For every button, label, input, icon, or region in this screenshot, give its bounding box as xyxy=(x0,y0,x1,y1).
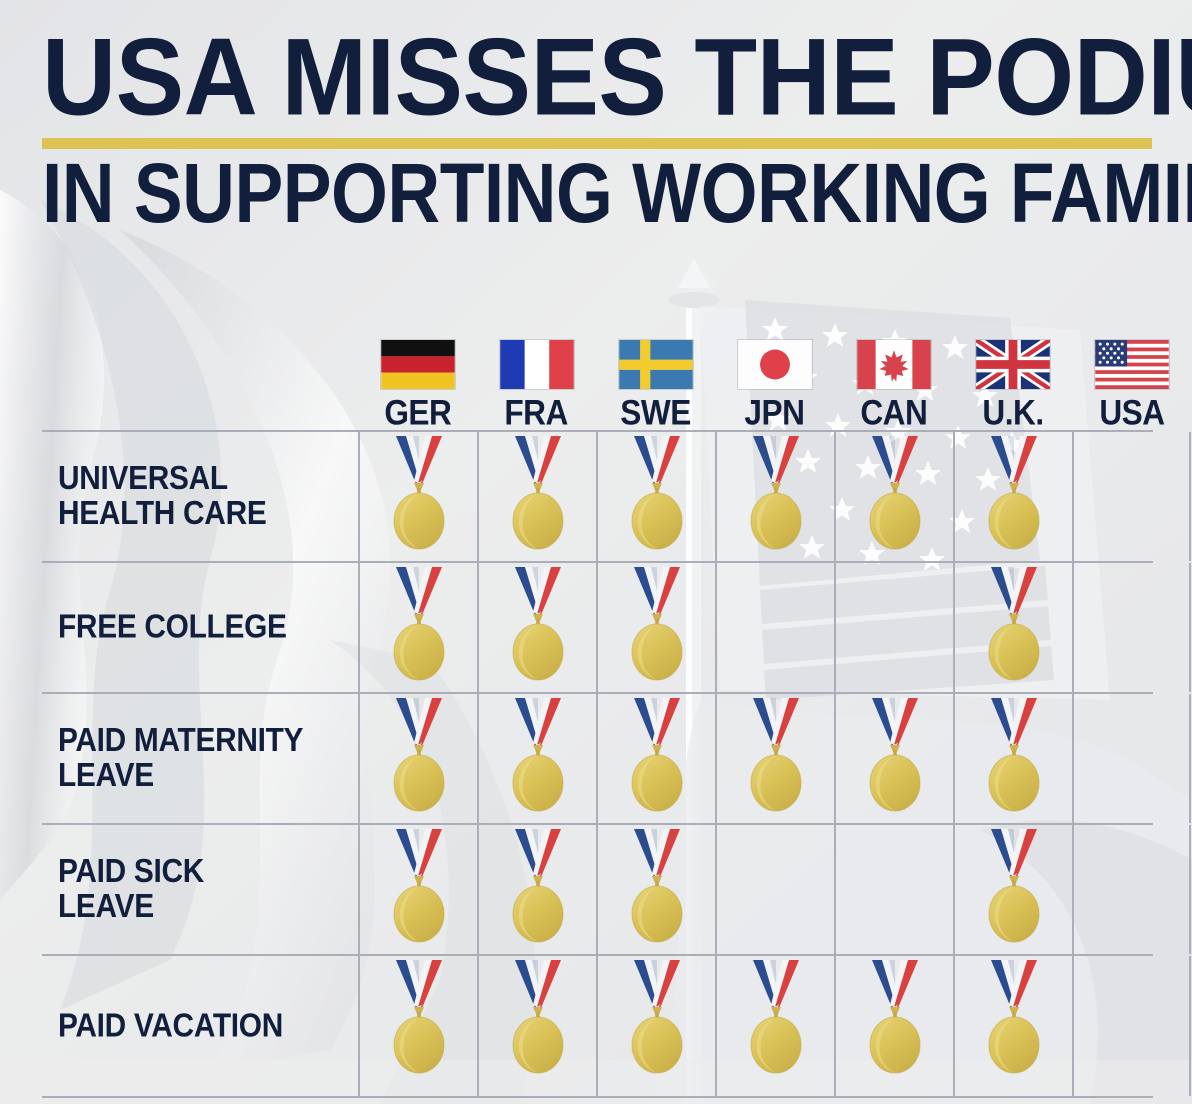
cell-ger-free-college xyxy=(358,563,477,692)
cell-jpn-free-college xyxy=(715,563,834,692)
row-label-text: PAID VACATION xyxy=(58,1009,283,1044)
gold-medal-icon xyxy=(502,567,574,687)
sweden-flag-icon xyxy=(619,340,693,389)
cell-uk-paid-maternity-leave xyxy=(953,694,1072,823)
cell-swe-free-college xyxy=(596,563,715,692)
gold-medal-icon xyxy=(859,960,931,1080)
cell-fra-paid-maternity-leave xyxy=(477,694,596,823)
cell-fra-paid-sick-leave xyxy=(477,825,596,954)
row-label-universal-health-care: UNIVERSAL HEALTH CARE xyxy=(42,432,358,561)
column-header-swe: SWE xyxy=(596,306,715,430)
cell-swe-universal-health-care xyxy=(596,432,715,561)
table-row: PAID VACATION xyxy=(42,956,1153,1098)
cell-uk-paid-vacation xyxy=(953,956,1072,1096)
cell-jpn-paid-vacation xyxy=(715,956,834,1096)
cell-swe-paid-sick-leave xyxy=(596,825,715,954)
gold-medal-icon xyxy=(502,436,574,556)
cell-usa-universal-health-care xyxy=(1072,432,1191,561)
column-header-label: USA xyxy=(1099,395,1164,430)
cell-can-paid-maternity-leave xyxy=(834,694,953,823)
cell-jpn-universal-health-care xyxy=(715,432,834,561)
table-header-row: GER FRA SWE JPN xyxy=(42,306,1153,430)
column-header-uk: U.K. xyxy=(953,306,1072,430)
row-label-paid-vacation: PAID VACATION xyxy=(42,956,358,1096)
cell-swe-paid-maternity-leave xyxy=(596,694,715,823)
column-header-label: JPN xyxy=(745,395,805,430)
cell-ger-paid-sick-leave xyxy=(358,825,477,954)
gold-medal-icon xyxy=(978,567,1050,687)
column-header-ger: GER xyxy=(358,306,477,430)
row-label-paid-maternity-leave: PAID MATERNITY LEAVE xyxy=(42,694,358,823)
row-label-paid-sick-leave: PAID SICK LEAVE xyxy=(42,825,358,954)
gold-medal-icon xyxy=(383,567,455,687)
cell-jpn-paid-maternity-leave xyxy=(715,694,834,823)
japan-flag-icon xyxy=(738,340,812,389)
cell-uk-free-college xyxy=(953,563,1072,692)
cell-can-paid-vacation xyxy=(834,956,953,1096)
gold-medal-icon xyxy=(978,829,1050,949)
cell-usa-paid-vacation xyxy=(1072,956,1191,1096)
cell-fra-free-college xyxy=(477,563,596,692)
gold-medal-icon xyxy=(740,960,812,1080)
gold-medal-icon xyxy=(978,960,1050,1080)
row-label-text: PAID MATERNITY LEAVE xyxy=(58,724,303,794)
cell-usa-free-college xyxy=(1072,563,1191,692)
table-row: PAID SICK LEAVE xyxy=(42,825,1153,956)
cell-ger-universal-health-care xyxy=(358,432,477,561)
gold-medal-icon xyxy=(502,960,574,1080)
gold-medal-icon xyxy=(621,960,693,1080)
gold-medal-icon xyxy=(383,960,455,1080)
gold-medal-icon xyxy=(621,829,693,949)
table-row: UNIVERSAL HEALTH CARE xyxy=(42,432,1153,563)
cell-jpn-paid-sick-leave xyxy=(715,825,834,954)
gold-medal-icon xyxy=(383,829,455,949)
medal-comparison-table: GER FRA SWE JPN xyxy=(42,306,1153,1098)
column-header-label: U.K. xyxy=(982,395,1043,430)
canada-flag-icon xyxy=(857,340,931,389)
cell-usa-paid-maternity-leave xyxy=(1072,694,1191,823)
usa-flag-icon xyxy=(1095,340,1169,389)
column-header-jpn: JPN xyxy=(715,306,834,430)
cell-fra-universal-health-care xyxy=(477,432,596,561)
headline-line-2: IN SUPPORTING WORKING FAMILIES xyxy=(42,155,1192,232)
column-header-label: FRA xyxy=(505,395,568,430)
column-header-label: CAN xyxy=(860,395,927,430)
column-header-label: GER xyxy=(384,395,451,430)
gold-medal-icon xyxy=(621,698,693,818)
gold-medal-icon xyxy=(978,436,1050,556)
cell-uk-universal-health-care xyxy=(953,432,1072,561)
table-row: FREE COLLEGE xyxy=(42,563,1153,694)
column-header-can: CAN xyxy=(834,306,953,430)
row-label-free-college: FREE COLLEGE xyxy=(42,563,358,692)
cell-swe-paid-vacation xyxy=(596,956,715,1096)
gold-medal-icon xyxy=(740,436,812,556)
column-header-label: SWE xyxy=(620,395,691,430)
gold-medal-icon xyxy=(859,436,931,556)
headline-line-1: USA MISSES THE PODIUM xyxy=(42,28,1192,129)
cell-can-universal-health-care xyxy=(834,432,953,561)
gold-medal-icon xyxy=(978,698,1050,818)
cell-usa-paid-sick-leave xyxy=(1072,825,1191,954)
cell-fra-paid-vacation xyxy=(477,956,596,1096)
row-label-text: FREE COLLEGE xyxy=(58,610,287,645)
table-row: PAID MATERNITY LEAVE xyxy=(42,694,1153,825)
row-label-text: UNIVERSAL HEALTH CARE xyxy=(58,462,266,532)
gold-medal-icon xyxy=(621,567,693,687)
column-header-fra: FRA xyxy=(477,306,596,430)
gold-medal-icon xyxy=(859,698,931,818)
cell-can-paid-sick-leave xyxy=(834,825,953,954)
uk-flag-icon xyxy=(976,340,1050,389)
france-flag-icon xyxy=(500,340,574,389)
gold-medal-icon xyxy=(383,436,455,556)
cell-ger-paid-maternity-leave xyxy=(358,694,477,823)
gold-medal-icon xyxy=(383,698,455,818)
germany-flag-icon xyxy=(381,340,455,389)
headline-block: USA MISSES THE PODIUM IN SUPPORTING WORK… xyxy=(42,34,1152,226)
gold-medal-icon xyxy=(502,829,574,949)
table-body: UNIVERSAL HEALTH CARE xyxy=(42,430,1153,1098)
gold-medal-icon xyxy=(502,698,574,818)
cell-can-free-college xyxy=(834,563,953,692)
gold-medal-icon xyxy=(621,436,693,556)
column-header-usa: USA xyxy=(1072,306,1191,430)
header-corner-spacer xyxy=(42,306,358,430)
cell-ger-paid-vacation xyxy=(358,956,477,1096)
row-label-text: PAID SICK LEAVE xyxy=(58,855,204,925)
gold-medal-icon xyxy=(740,698,812,818)
cell-uk-paid-sick-leave xyxy=(953,825,1072,954)
